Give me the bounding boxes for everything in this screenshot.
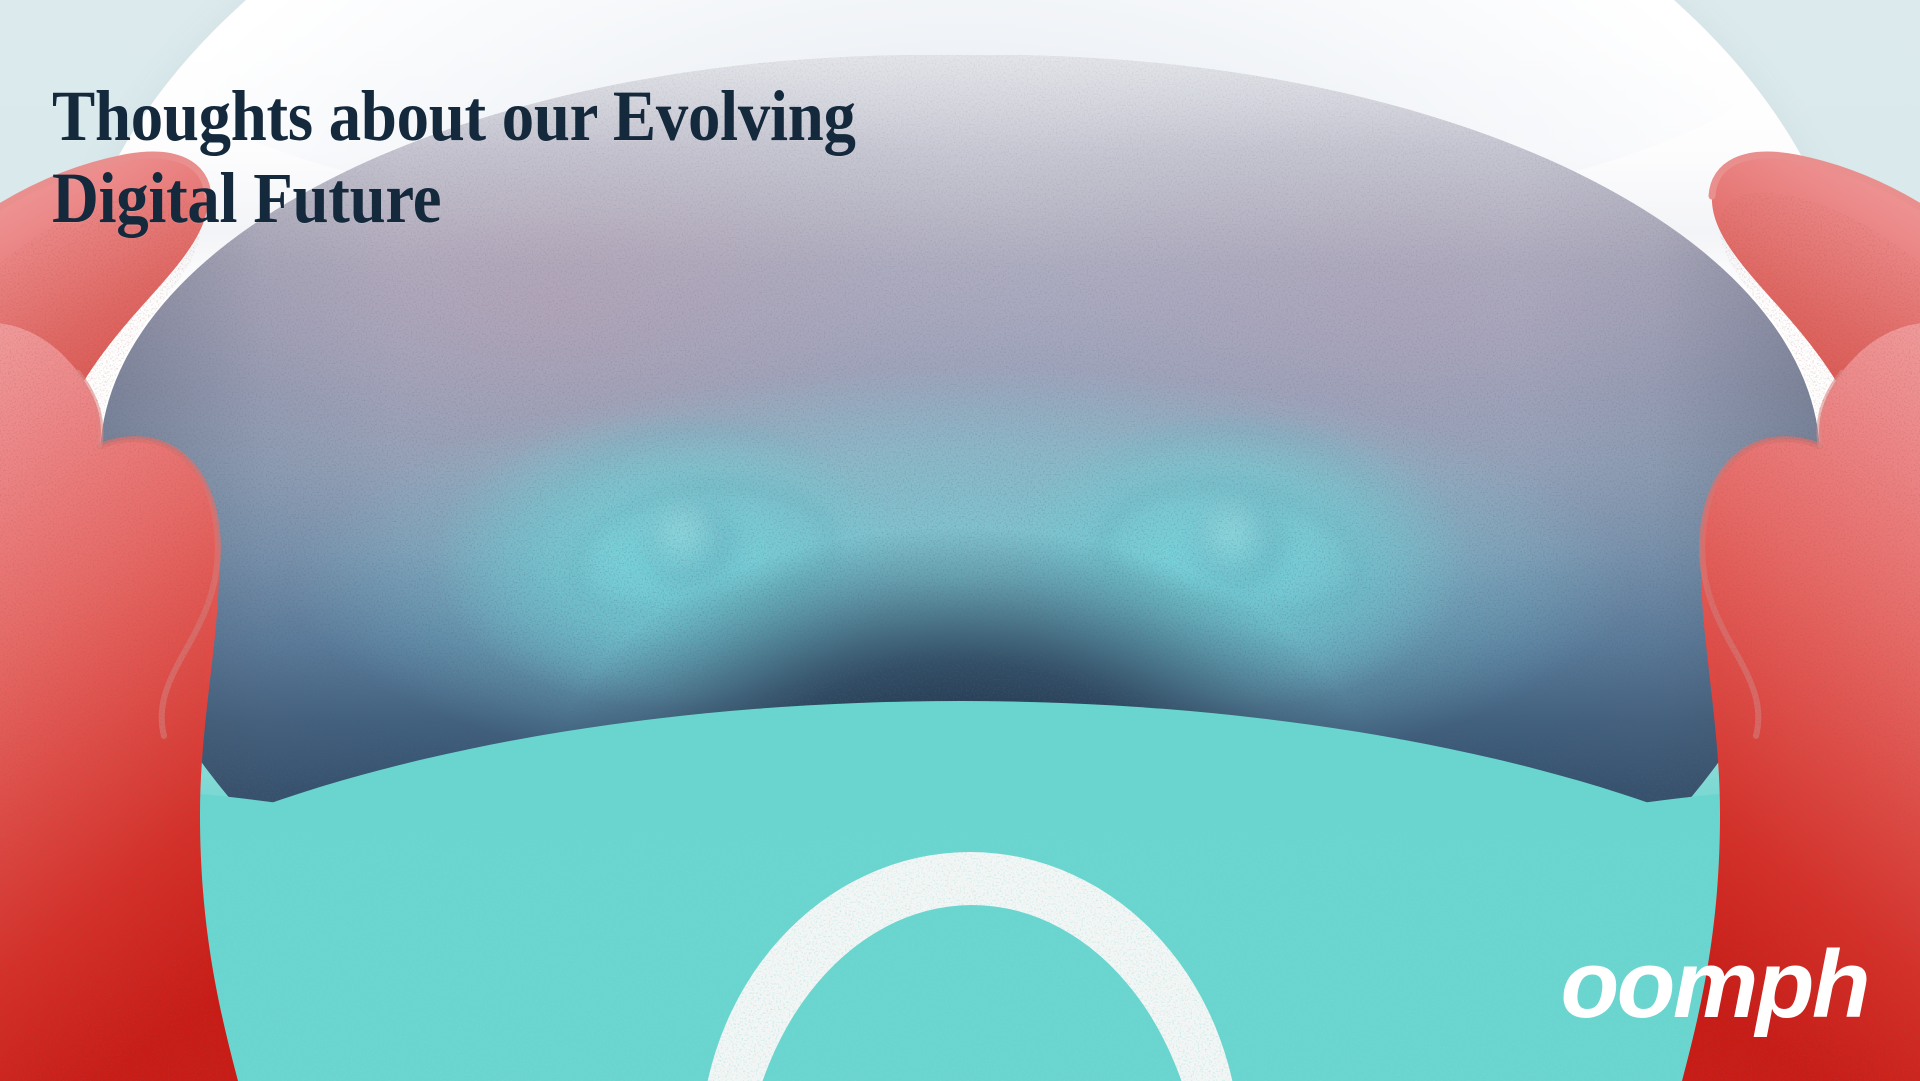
hero-banner: Thoughts about our Evolving Digital Futu… — [0, 0, 1920, 1081]
oomph-logo[interactable]: oomph — [1561, 941, 1868, 1029]
page-title: Thoughts about our Evolving Digital Futu… — [52, 76, 1114, 239]
pupil-right-icon — [1190, 495, 1286, 591]
pupil-left-icon — [640, 495, 736, 591]
right-hand-icon — [1620, 0, 1920, 1081]
